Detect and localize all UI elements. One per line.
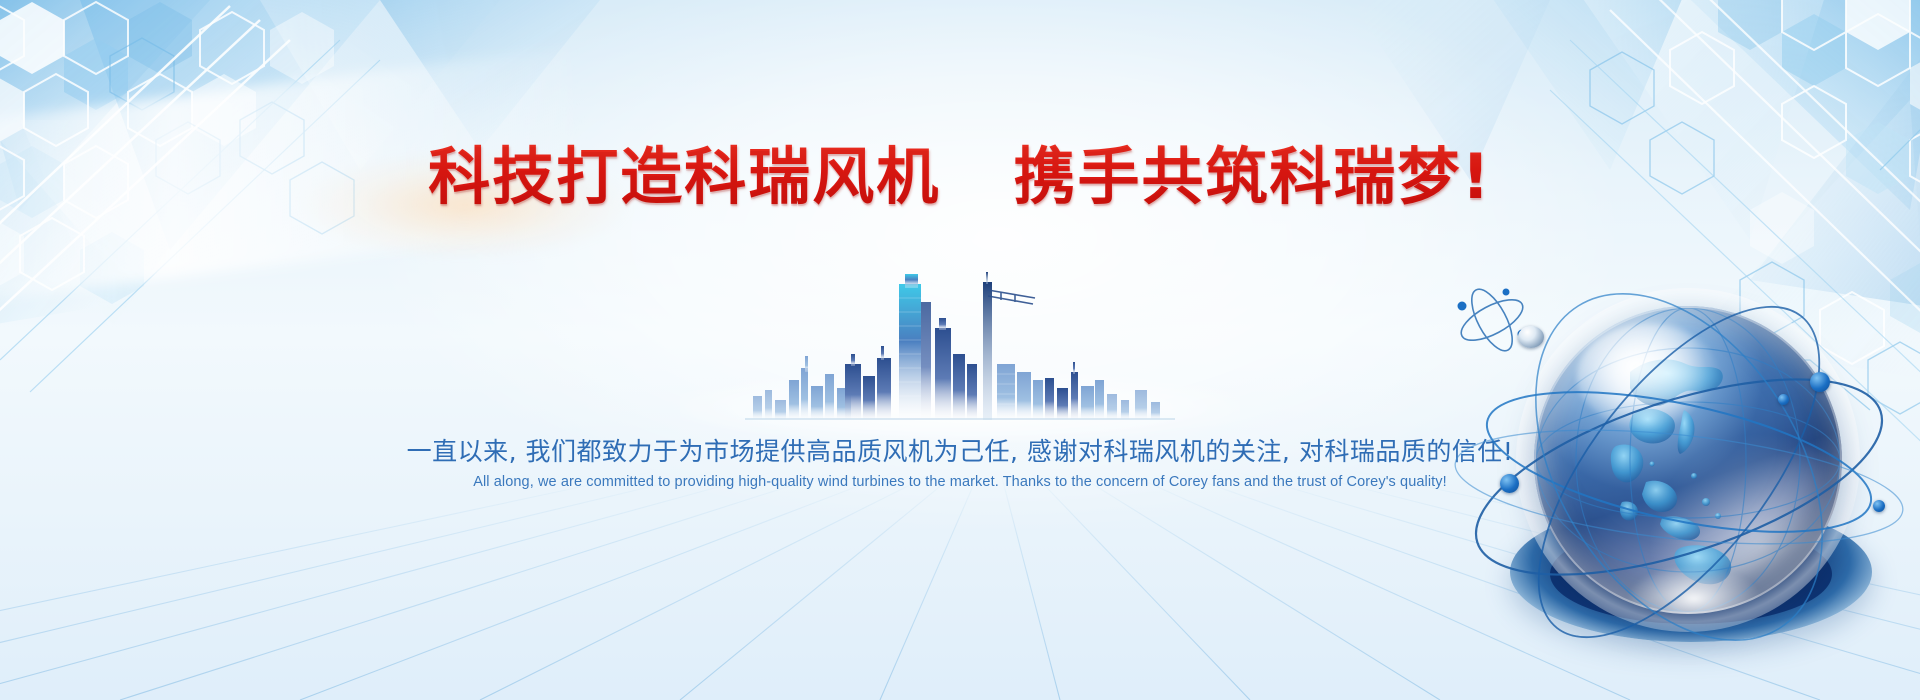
atom-icon (1510, 320, 1554, 354)
globe-base-disc (1510, 502, 1872, 642)
globe-bottom-glow (1626, 565, 1762, 614)
globe-highlight (1577, 324, 1719, 429)
city-skyline-icon (745, 268, 1175, 420)
globe-base-disc-inner (1550, 524, 1832, 624)
orbit-node-4 (1778, 394, 1789, 405)
orbit-node-1 (1810, 372, 1830, 392)
subtitle-chinese: 一直以来, 我们都致力于为市场提供高品质风机为己任, 感谢对科瑞风机的关注, 对… (0, 432, 1920, 468)
headline-part-1: 科技打造科瑞风机 (428, 140, 940, 213)
subtitle-english: All along, we are committed to providing… (0, 474, 1920, 490)
headline-part-2: 携手共筑科瑞梦! (1013, 140, 1491, 213)
page-title: 科技打造科瑞风机 携手共筑科瑞梦! (0, 126, 1920, 216)
atom-nucleus (1518, 326, 1544, 348)
perspective-grid-floor (0, 470, 1920, 700)
orbit-node-3 (1873, 500, 1885, 512)
hero-banner: 科技打造科瑞风机 携手共筑科瑞梦! (0, 0, 1920, 700)
